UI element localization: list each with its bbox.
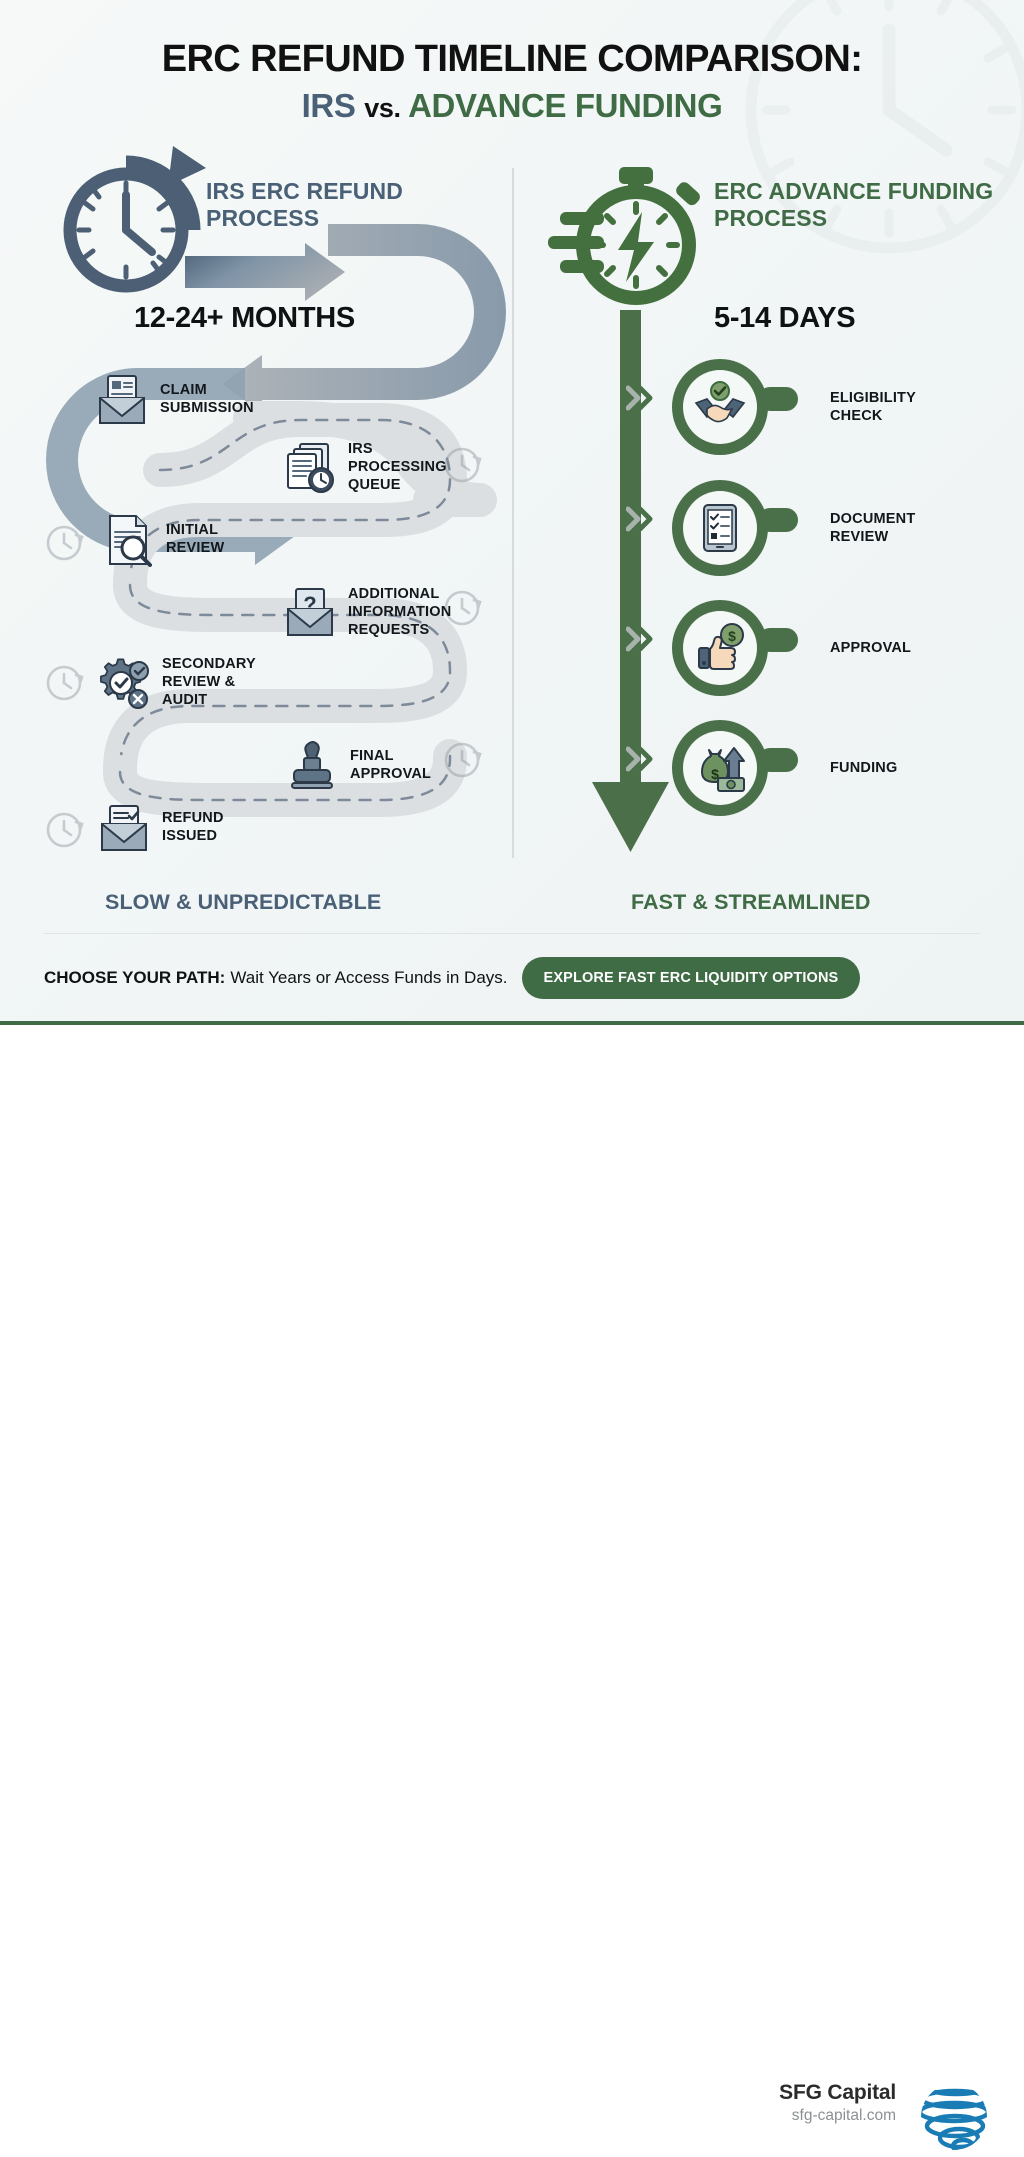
irs-step-refund-issued[interactable]: REFUND ISSUED <box>96 800 224 856</box>
clock-arrow-icon <box>70 146 206 286</box>
globe-logo <box>914 2077 994 2157</box>
envelope-question-icon: ? <box>282 585 338 641</box>
title-advance: ADVANCE FUNDING <box>408 87 722 124</box>
title-irs: IRS <box>302 87 356 124</box>
title-line-2: IRS vs. ADVANCE FUNDING <box>0 85 1024 128</box>
brand-url: sfg-capital.com <box>779 2107 896 2125</box>
title-vs: vs. <box>364 93 400 123</box>
handshake-check-icon <box>694 381 746 433</box>
irs-step-label: IRS PROCESSING QUEUE <box>348 441 447 494</box>
tablet-checklist-icon <box>694 502 746 554</box>
gear-check-cross-icon <box>96 655 152 711</box>
money-bag-arrow-icon: $ <box>694 742 746 794</box>
advance-step-label: ELIGIBILITY CHECK <box>830 389 916 425</box>
infographic-canvas: ERC REFUND TIMELINE COMPARISON: IRS vs. … <box>0 0 1024 1154</box>
column-divider <box>512 168 514 858</box>
irs-step-label: CLAIM SUBMISSION <box>160 382 254 417</box>
brand-block: SFG Capital sfg-capital.com <box>779 2081 896 2125</box>
irs-step-claim-submission[interactable]: CLAIM SUBMISSION <box>94 372 254 428</box>
svg-text:$: $ <box>728 628 736 644</box>
advance-duration: 5-14 DAYS <box>714 302 855 335</box>
advance-verdict: FAST & STREAMLINED <box>631 890 871 915</box>
advance-heading: ERC ADVANCE FUNDING PROCESS <box>714 178 1004 232</box>
irs-step-label: ADDITIONAL INFORMATION REQUESTS <box>348 586 451 639</box>
irs-step-final-approval[interactable]: FINAL APPROVAL <box>284 738 431 794</box>
cta-subtext: Wait Years or Access Funds in Days. <box>230 968 507 988</box>
cta-row: CHOOSE YOUR PATH: Wait Years or Access F… <box>44 955 984 1001</box>
explore-liquidity-button[interactable]: EXPLORE FAST ERC LIQUIDITY OPTIONS <box>522 957 861 999</box>
irs-step-label: SECONDARY REVIEW & AUDIT <box>162 656 256 709</box>
irs-step-label: FINAL APPROVAL <box>350 748 431 783</box>
irs-verdict: SLOW & UNPREDICTABLE <box>105 890 381 915</box>
brand-name: SFG Capital <box>779 2081 896 2105</box>
advance-step-eligibility-check[interactable]: ELIGIBILITY CHECK <box>672 351 1012 463</box>
irs-step-initial-review[interactable]: INITIAL REVIEW <box>100 512 224 568</box>
chevron-right-icon <box>626 626 656 652</box>
chevron-right-icon <box>626 506 656 532</box>
advance-step-funding[interactable]: $ FUNDING <box>672 712 1012 824</box>
chevron-right-icon <box>626 385 656 411</box>
title-line-1: ERC REFUND TIMELINE COMPARISON: <box>0 38 1024 82</box>
advance-step-label: DOCUMENT REVIEW <box>830 510 915 546</box>
advance-step-approval[interactable]: $ APPROVAL <box>672 592 1012 704</box>
chevron-right-icon <box>626 746 656 772</box>
rubber-stamp-icon <box>284 738 340 794</box>
irs-step-additional-info[interactable]: ? ADDITIONAL INFORMATION REQUESTS <box>282 585 451 641</box>
cta-headline: CHOOSE YOUR PATH: <box>44 968 225 988</box>
thumbs-up-dollar-icon: $ <box>694 622 746 674</box>
footer-bar: SFG Capital sfg-capital.com <box>0 1026 1024 1154</box>
irs-duration: 12-24+ MONTHS <box>134 302 355 335</box>
irs-step-processing-queue[interactable]: IRS PROCESSING QUEUE <box>282 440 447 496</box>
step-circle: $ <box>672 720 768 816</box>
stopwatch-bolt-icon <box>548 167 702 298</box>
step-circle <box>672 480 768 576</box>
advance-step-label: FUNDING <box>830 759 897 777</box>
advance-step-label: APPROVAL <box>830 639 911 657</box>
document-magnifier-icon <box>100 512 156 568</box>
document-stack-clock-icon <box>282 440 338 496</box>
panel-underline <box>0 1021 1024 1025</box>
irs-step-label: INITIAL REVIEW <box>166 522 224 557</box>
page-title: ERC REFUND TIMELINE COMPARISON: IRS vs. … <box>0 38 1024 128</box>
main-panel: ERC REFUND TIMELINE COMPARISON: IRS vs. … <box>0 0 1024 1025</box>
step-circle <box>672 359 768 455</box>
irs-step-label: REFUND ISSUED <box>162 810 224 845</box>
envelope-check-icon <box>96 800 152 856</box>
step-circle: $ <box>672 600 768 696</box>
cta-divider <box>44 933 980 934</box>
irs-step-secondary-review[interactable]: SECONDARY REVIEW & AUDIT <box>96 655 256 711</box>
irs-heading: IRS ERC REFUND PROCESS <box>206 178 496 232</box>
envelope-document-icon <box>94 372 150 428</box>
advance-step-document-review[interactable]: DOCUMENT REVIEW <box>672 472 1012 584</box>
